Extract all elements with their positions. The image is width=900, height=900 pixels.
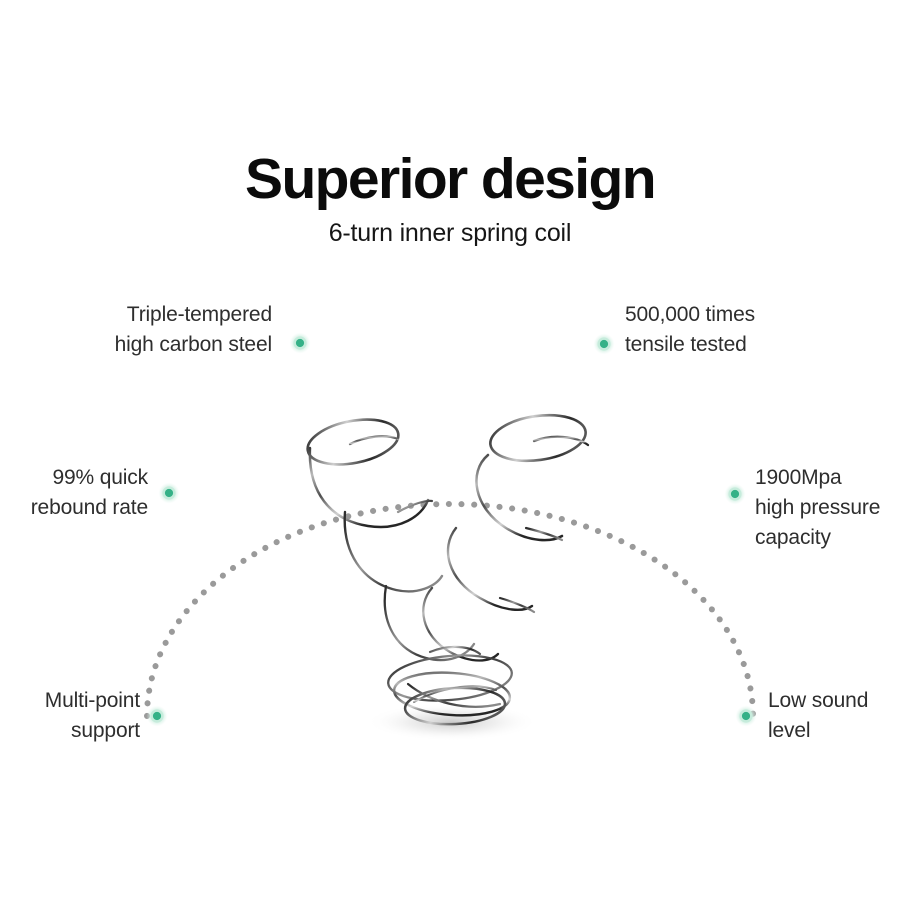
feature-label-high-pressure-capacity: 1900Mpa high pressure capacity — [755, 463, 900, 553]
heading-block: Superior design 6-turn inner spring coil — [0, 148, 900, 248]
spring-turn-2-right — [476, 455, 562, 540]
page-subtitle: 6-turn inner spring coil — [0, 218, 900, 248]
arc-marker-rebound-rate[interactable] — [159, 483, 180, 504]
spring-turn-4-tip — [430, 647, 480, 654]
feature-label-multi-point-support: Multi-point support — [0, 686, 140, 746]
spring-turn-3-right — [448, 528, 532, 610]
arc-marker-high-pressure-capacity[interactable] — [725, 484, 746, 505]
page-title: Superior design — [0, 148, 900, 210]
feature-label-rebound-rate: 99% quick rebound rate — [0, 463, 148, 523]
feature-label-low-sound-level: Low sound level — [768, 686, 900, 746]
spring-turn-4-left — [385, 586, 474, 660]
arc-marker-triple-tempered[interactable] — [290, 333, 311, 354]
feature-label-tensile-tested: 500,000 times tensile tested — [625, 300, 855, 360]
feature-label-triple-tempered: Triple-tempered high carbon steel — [42, 300, 272, 360]
spring-shadow — [366, 703, 538, 741]
arc-marker-tensile-tested[interactable] — [594, 334, 615, 355]
coil-spring-icon — [290, 400, 610, 750]
infographic-canvas: Superior design 6-turn inner spring coil — [0, 0, 900, 900]
arc-marker-multi-point-support[interactable] — [147, 706, 168, 727]
spring-wire-group — [304, 410, 589, 727]
spring-end-top-left — [350, 436, 398, 444]
arc-marker-low-sound-level[interactable] — [736, 706, 757, 727]
